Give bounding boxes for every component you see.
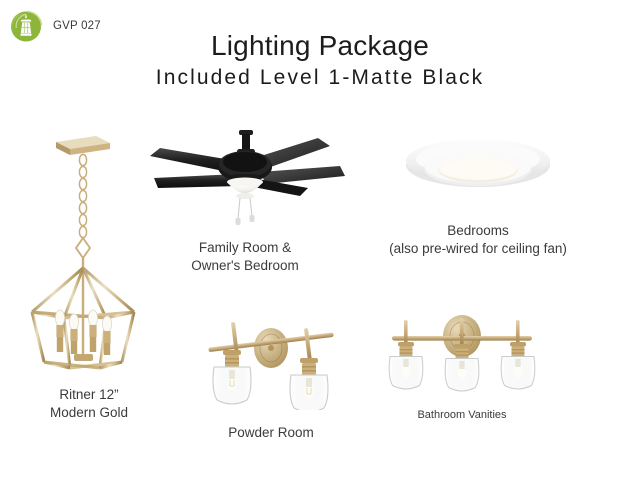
- page-subtitle: Included Level 1-Matte Black: [0, 64, 640, 91]
- product-vanity-3-light: Bathroom Vanities: [378, 306, 546, 423]
- fan-caption-line1: Family Room &: [140, 239, 350, 257]
- product-ceiling-fan: Family Room & Owner's Bedroom: [140, 126, 350, 275]
- page-title: Lighting Package: [0, 30, 640, 62]
- product-flush-mount: Bedrooms (also pre-wired for ceiling fan…: [378, 132, 578, 258]
- fan-caption-line2: Owner's Bedroom: [140, 257, 350, 275]
- pendant-caption-line1: Ritner 12”: [14, 386, 164, 404]
- fan-caption: Family Room & Owner's Bedroom: [140, 239, 350, 275]
- flush-mount-caption-line1: Bedrooms: [378, 222, 578, 240]
- vanity-3-light-icon: [378, 306, 546, 402]
- ceiling-fan-icon: [140, 126, 350, 231]
- product-vanity-2-light: Powder Room: [196, 306, 346, 442]
- pendant-caption: Ritner 12” Modern Gold: [14, 386, 164, 422]
- flush-mount-caption-line2: (also pre-wired for ceiling fan): [378, 240, 578, 258]
- flush-mount-disk-icon: [378, 132, 578, 204]
- flush-mount-caption: Bedrooms (also pre-wired for ceiling fan…: [378, 222, 578, 258]
- page-title-block: Lighting Package Included Level 1-Matte …: [0, 30, 640, 92]
- pendant-caption-line2: Modern Gold: [14, 404, 164, 422]
- vanity-2-light-icon: [196, 306, 346, 410]
- vanity-3-light-caption-line1: Bathroom Vanities: [378, 408, 546, 423]
- vanity-2-light-caption: Powder Room: [196, 424, 346, 442]
- lighting-package-slide: GVP 027 Lighting Package Included Level …: [0, 0, 640, 480]
- vanity-3-light-caption: Bathroom Vanities: [378, 408, 546, 423]
- vanity-2-light-caption-line1: Powder Room: [196, 424, 346, 442]
